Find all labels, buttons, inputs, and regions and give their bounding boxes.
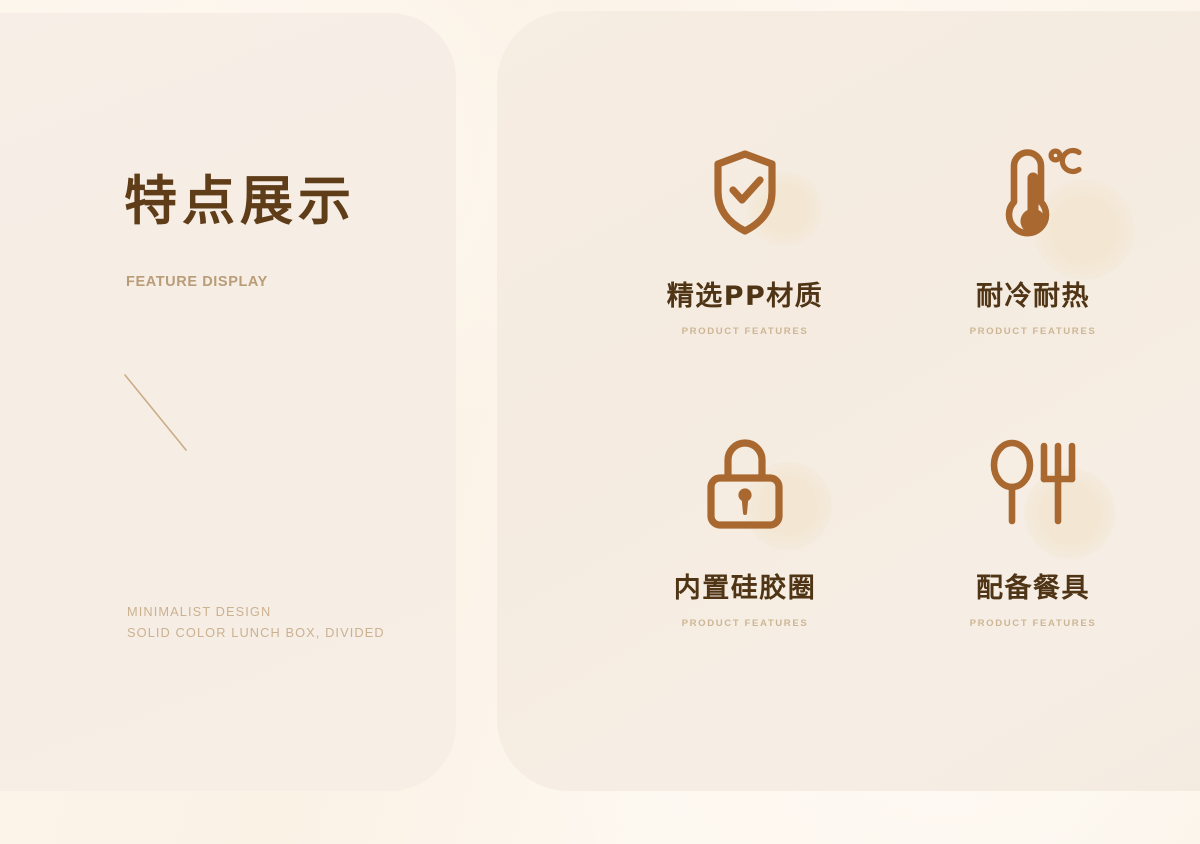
thermometer-celsius-icon — [968, 130, 1098, 260]
feature-card-pp-material: 精选PP材质 PRODUCT FEATURES — [600, 130, 890, 337]
feature-display-banner: 特点展示 FEATURE DISPLAY MINIMALIST DESIGN S… — [0, 0, 1200, 844]
feature-title: 耐冷耐热 — [888, 282, 1178, 312]
feature-icon-wrap — [680, 130, 810, 260]
feature-subtitle: PRODUCT FEATURES — [600, 326, 890, 337]
feature-subtitle: PRODUCT FEATURES — [888, 326, 1178, 337]
padlock-icon — [680, 422, 810, 552]
footnote-line-1: MINIMALIST DESIGN — [127, 601, 385, 622]
feature-icon-wrap — [968, 130, 1098, 260]
shield-check-icon — [680, 130, 810, 260]
feature-title: 配备餐具 — [888, 574, 1178, 604]
diagonal-line-icon — [124, 374, 196, 456]
page-subtitle: FEATURE DISPLAY — [126, 274, 268, 290]
spoon-fork-icon — [968, 422, 1098, 552]
page-title: 特点展示 — [124, 175, 356, 228]
feature-card-cutlery-included: 配备餐具 PRODUCT FEATURES — [888, 422, 1178, 629]
left-panel — [0, 13, 456, 791]
feature-title: 精选PP材质 — [600, 282, 890, 312]
feature-grid: 精选PP材质 PRODUCT FEATURES — [600, 130, 1180, 690]
feature-card-silicone-ring: 内置硅胶圈 PRODUCT FEATURES — [600, 422, 890, 629]
footnote-block: MINIMALIST DESIGN SOLID COLOR LUNCH BOX,… — [127, 601, 385, 643]
feature-subtitle: PRODUCT FEATURES — [888, 618, 1178, 629]
feature-title: 内置硅胶圈 — [600, 574, 890, 604]
feature-icon-wrap — [968, 422, 1098, 552]
feature-subtitle: PRODUCT FEATURES — [600, 618, 890, 629]
feature-icon-wrap — [680, 422, 810, 552]
feature-card-temperature-resistant: 耐冷耐热 PRODUCT FEATURES — [888, 130, 1178, 337]
footnote-line-2: SOLID COLOR LUNCH BOX, DIVIDED — [127, 622, 385, 643]
